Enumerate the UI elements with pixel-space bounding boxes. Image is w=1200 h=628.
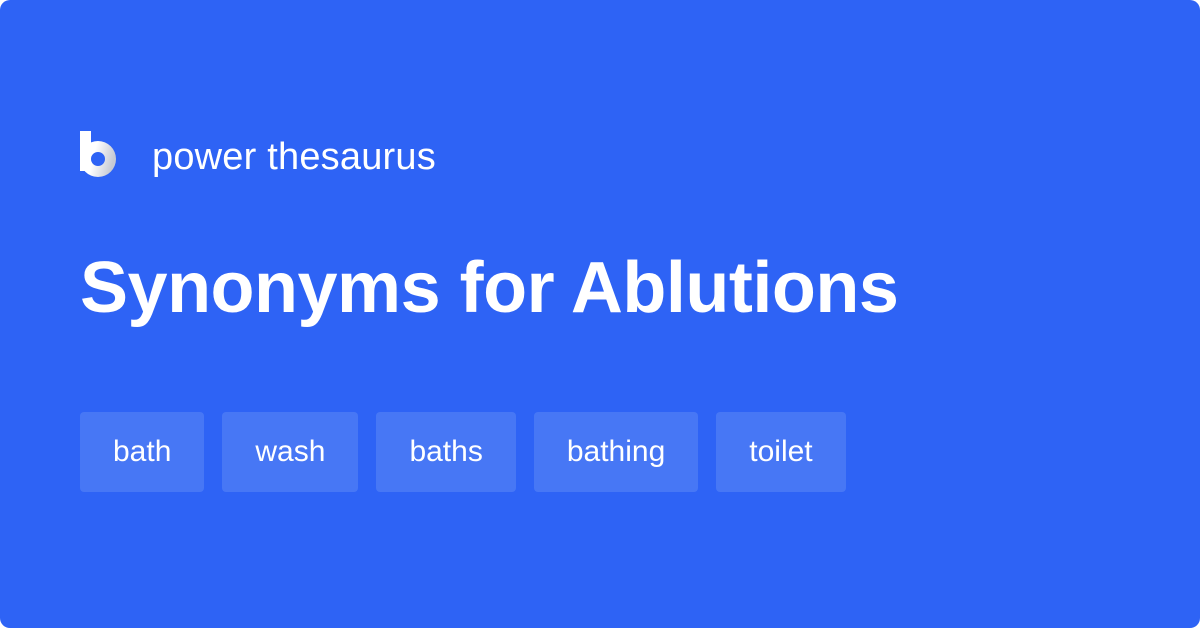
page-title: Synonyms for Ablutions (80, 252, 898, 324)
brand-logo[interactable]: power thesaurus (80, 128, 436, 186)
synonym-tag[interactable]: baths (376, 412, 515, 492)
brand-name: power thesaurus (152, 138, 436, 176)
synonym-tag[interactable]: toilet (716, 412, 845, 492)
share-card: power thesaurus Synonyms for Ablutions b… (0, 0, 1200, 628)
power-thesaurus-b-logo-icon (80, 131, 124, 183)
synonym-tag-list: bath wash baths bathing toilet (80, 412, 846, 492)
synonym-tag[interactable]: bath (80, 412, 204, 492)
synonym-tag[interactable]: bathing (534, 412, 698, 492)
synonym-tag[interactable]: wash (222, 412, 358, 492)
